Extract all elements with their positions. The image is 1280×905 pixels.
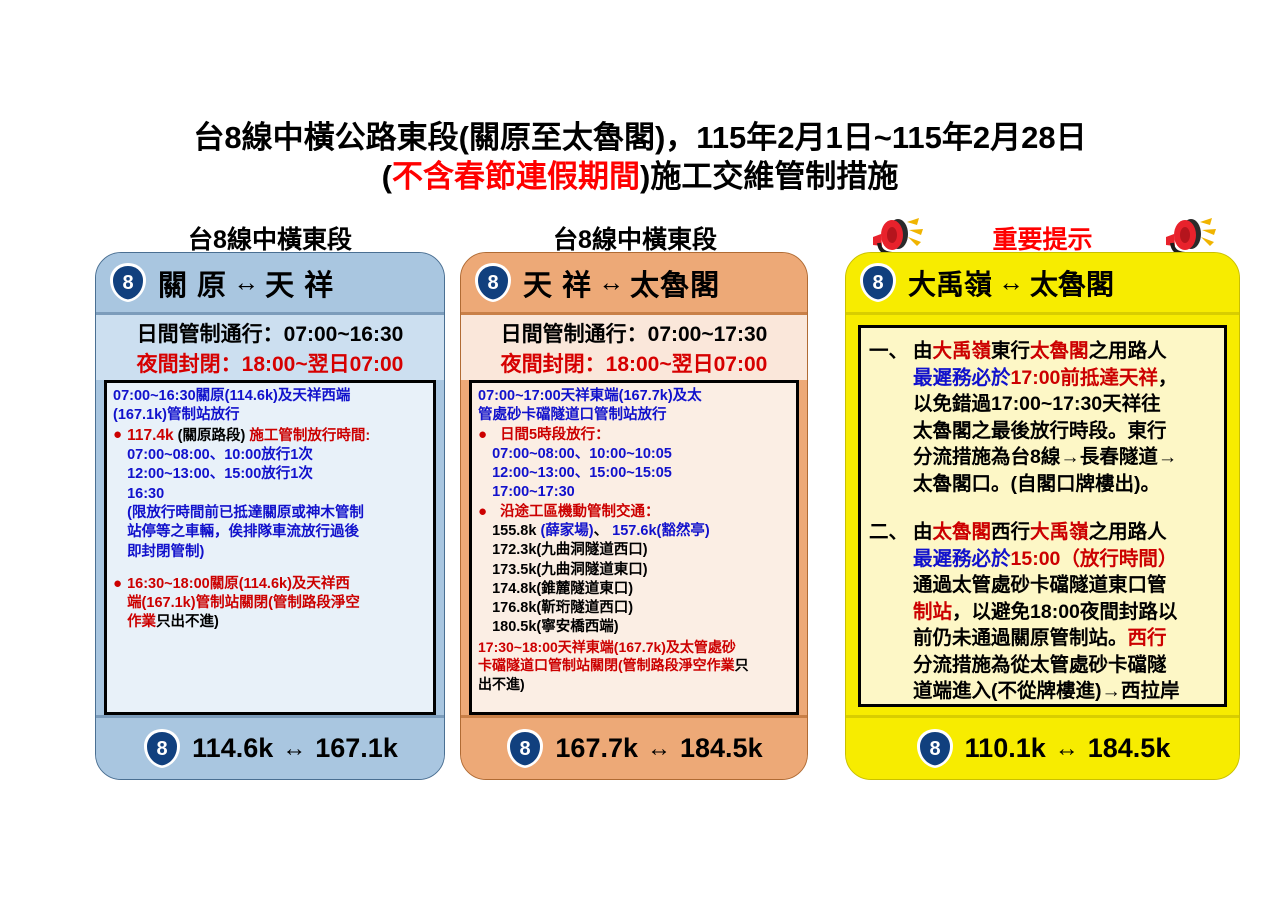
bullet-icon: ● bbox=[113, 575, 122, 593]
panel2-km-row-6: 180.5k(寧安橋西端) bbox=[492, 618, 790, 637]
notice-2-line-7: 道端進入(不從牌樓進)→西拉岸 bbox=[913, 678, 1216, 705]
panel2-range-from: 167.7k bbox=[555, 733, 638, 764]
panel1-b1-times-2: 12:00~13:00、15:00放行1次 bbox=[127, 465, 427, 484]
route-shield-icon: 8 bbox=[473, 261, 513, 304]
panel1-b1-times-3: 16:30 bbox=[127, 485, 427, 504]
notice-2-line-8: 隧道→台8線長春隧道→天祥。 bbox=[913, 705, 1216, 707]
panel2-bullet-1: ● 日間5時段放行： 07:00~08:00、10:00~10:05 12:00… bbox=[478, 426, 790, 503]
panel1-b1-times-1: 07:00~08:00、10:00放行1次 bbox=[127, 446, 427, 465]
notice-item-2-number: 二、 bbox=[869, 519, 913, 707]
title-accent: 不含春節連假期間 bbox=[392, 159, 640, 194]
double-arrow-icon: ↔ bbox=[1055, 735, 1079, 763]
n2l4a: 制站 bbox=[913, 601, 952, 623]
svg-text:8: 8 bbox=[157, 738, 168, 760]
notice-spacer bbox=[869, 501, 1216, 519]
panel-tianxiang-taroko: 8 天 祥 ↔ 太魯閣 日間管制通行：07:00~17:30 夜間封閉：18:0… bbox=[460, 252, 808, 780]
n2l1a: 由 bbox=[913, 521, 933, 543]
bullet-icon: ● bbox=[478, 426, 487, 444]
n1l2c: ， bbox=[1158, 367, 1178, 389]
panel1-range-from: 114.6k bbox=[192, 733, 273, 764]
panel1-nighttime: 夜間封閉：18:00~翌日07:00 bbox=[96, 348, 444, 378]
panel2-intro-2: 管處砂卡礑隧道口管制站放行 bbox=[478, 406, 790, 425]
panel1-from: 關 原 bbox=[158, 262, 227, 304]
panel1-b2-blk: 只出不進) bbox=[156, 614, 219, 630]
notice-1-line-6: 太魯閣口。(自閣口牌樓出)。 bbox=[913, 471, 1216, 498]
panel1-spacer bbox=[113, 562, 427, 575]
panel1-b1-km: 117.4k bbox=[127, 427, 174, 444]
panel1-b2-line-3: 作業只出不進) bbox=[127, 613, 427, 632]
panel3-range: 110.1k ↔ 184.5k bbox=[965, 733, 1171, 764]
panel1-range-to: 167.1k bbox=[315, 733, 398, 764]
panel3-range-from: 110.1k bbox=[965, 733, 1046, 764]
n2l1d: 大禹嶺 bbox=[1030, 521, 1089, 543]
panel1-b2-line-1: 16:30~18:00關原(114.6k)及天祥西 bbox=[127, 575, 427, 594]
panel2-km-row-5: 176.8k(靳珩隧道西口) bbox=[492, 599, 790, 618]
panel3-footer: 8 110.1k ↔ 184.5k bbox=[846, 715, 1239, 779]
panel2-km1b: (薛家場) bbox=[540, 523, 593, 539]
n1l2b: 17:00前抵達天祥 bbox=[1011, 367, 1158, 389]
n1l1e: 之用路人 bbox=[1089, 340, 1167, 362]
double-arrow-icon: ↔ bbox=[598, 267, 624, 298]
panel1-range: 114.6k ↔ 167.1k bbox=[192, 733, 398, 764]
notice-1-line-4: 太魯閣之最後放行時段。東行 bbox=[913, 418, 1216, 445]
panel1-b1-head: 117.4k (關原路段) 施工管制放行時間: bbox=[127, 426, 427, 447]
n2l5b: 西行 bbox=[1128, 627, 1167, 649]
n1l1d: 太魯閣 bbox=[1030, 340, 1089, 362]
notice-2-line-3: 通過太管處砂卡礑隧道東口管 bbox=[913, 572, 1216, 599]
panel1-time-bar: 日間管制通行：07:00~16:30 夜間封閉：18:00~翌日07:00 bbox=[96, 315, 444, 380]
panel2-close-2-red: 卡礑隧道口管制站關閉(管制路段淨空作業 bbox=[478, 657, 735, 673]
n2l1b: 太魯閣 bbox=[933, 521, 992, 543]
panel1-bullet-2: ● 16:30~18:00關原(114.6k)及天祥西 端(167.1k)管制站… bbox=[113, 575, 427, 633]
notice-2-line-4: 制站，以避免18:00夜間封路以 bbox=[913, 599, 1216, 626]
panel1-b1-seg: (關原路段) bbox=[178, 428, 246, 444]
notice-1-line-1: 由大禹嶺東行太魯閣之用路人 bbox=[913, 338, 1216, 365]
panel1-header: 8 關 原 ↔ 天 祥 bbox=[96, 253, 444, 315]
panel2-km-row-2: 172.3k(九曲洞隧道西口) bbox=[492, 541, 790, 560]
notice-1-line-5: 分流措施為台8線→長春隧道→ bbox=[913, 444, 1216, 471]
panel3-detail: 一、 由大禹嶺東行太魯閣之用路人 最遲務必於17:00前抵達天祥， 以免錯過17… bbox=[858, 325, 1227, 707]
panel2-km1d: 157.6k(豁然亭) bbox=[612, 523, 710, 539]
panel1-title: 關 原 ↔ 天 祥 bbox=[158, 262, 334, 304]
panel2-b1-times-2: 12:00~13:00、15:00~15:05 bbox=[492, 464, 790, 483]
panel2-km1a: 155.8k bbox=[492, 523, 536, 539]
double-arrow-icon: ↔ bbox=[233, 267, 259, 298]
double-arrow-icon: ↔ bbox=[647, 735, 671, 763]
panel1-b2-red: 作業 bbox=[127, 614, 156, 630]
panel2-b1-times-3: 17:00~17:30 bbox=[492, 483, 790, 502]
route-shield-icon: 8 bbox=[108, 261, 148, 304]
n2l1e: 之用路人 bbox=[1089, 521, 1167, 543]
notice-item-1-number: 一、 bbox=[869, 338, 913, 497]
panel2-title: 天 祥 ↔ 太魯閣 bbox=[523, 262, 720, 304]
panel2-close-3: 出不進) bbox=[478, 675, 790, 694]
panel1-b1-note-2: 站停等之車輛，俟排隊車流放行過後 bbox=[127, 523, 427, 542]
panel1-b2-line-2: 端(167.1k)管制站關閉(管制路段淨空 bbox=[127, 594, 427, 613]
panel1-detail: 07:00~16:30關原(114.6k)及天祥西端 (167.1k)管制站放行… bbox=[104, 380, 436, 715]
panel3-range-to: 184.5k bbox=[1088, 733, 1171, 764]
panel2-km-row-4: 174.8k(錐麓隧道東口) bbox=[492, 580, 790, 599]
panel2-close-2: 卡礑隧道口管制站關閉(管制路段淨空作業只 bbox=[478, 656, 790, 675]
n1l2a: 最遲務必於 bbox=[913, 367, 1011, 389]
panel1-bullet-1: ● 117.4k (關原路段) 施工管制放行時間: 07:00~08:00、10… bbox=[113, 426, 427, 562]
panel2-km-row-3: 173.5k(九曲洞隧道東口) bbox=[492, 561, 790, 580]
panel2-range-to: 184.5k bbox=[680, 733, 763, 764]
panel1-daytime: 日間管制通行：07:00~16:30 bbox=[96, 318, 444, 348]
svg-text:8: 8 bbox=[872, 272, 883, 294]
panel2-km-row-1: 155.8k (薛家場)、 157.6k(豁然亭) bbox=[492, 522, 790, 541]
panel1-intro-1: 07:00~16:30關原(114.6k)及天祥西端 bbox=[113, 387, 427, 406]
panel2-daytime: 日間管制通行：07:00~17:30 bbox=[461, 318, 807, 348]
panel2-detail: 07:00~17:00天祥東端(167.7k)及太 管處砂卡礑隧道口管制站放行 … bbox=[469, 380, 799, 715]
title-tail: )施工交維管制措施 bbox=[640, 159, 898, 194]
panel1-b1-note-1: (限放行時間前已抵達關原或神木管制 bbox=[127, 504, 427, 523]
bullet-icon: ● bbox=[113, 426, 122, 444]
title-paren-open: ( bbox=[382, 159, 392, 194]
notice-2-line-2: 最遲務必於15:00（放行時間） bbox=[913, 546, 1216, 573]
n1l1c: 東行 bbox=[991, 340, 1030, 362]
panel3-title: 大禹嶺 ↔ 太魯閣 bbox=[908, 263, 1114, 303]
n1l1a: 由 bbox=[913, 340, 933, 362]
title-line-2: (不含春節連假期間)施工交維管制措施 bbox=[0, 157, 1280, 196]
svg-text:8: 8 bbox=[520, 738, 531, 760]
panel1-to: 天 祥 bbox=[265, 262, 334, 304]
notice-2-line-6: 分流措施為從太管處砂卡礑隧 bbox=[913, 652, 1216, 679]
page-title: 台8線中橫公路東段(關原至太魯閣)，115年2月1日~115年2月28日 (不含… bbox=[0, 118, 1280, 196]
panel2-close-1: 17:30~18:00天祥東端(167.7k)及太管處砂 bbox=[478, 638, 790, 657]
n2l1c: 西行 bbox=[991, 521, 1030, 543]
panel2-time-bar: 日間管制通行：07:00~17:30 夜間封閉：18:00~翌日07:00 bbox=[461, 315, 807, 380]
notice-1-line-3: 以免錯過17:00~17:30天祥往 bbox=[913, 391, 1216, 418]
panel-dayuling-taroko-notice: 8 大禹嶺 ↔ 太魯閣 一、 由大禹嶺東行太魯閣之用路人 最遲務必於17:00前… bbox=[845, 252, 1240, 780]
panel2-bullet-2: ● 沿途工區機動管制交通： 155.8k (薛家場)、 157.6k(豁然亭) … bbox=[478, 503, 790, 638]
panel2-b1-times-1: 07:00~08:00、10:00~10:05 bbox=[492, 445, 790, 464]
svg-text:8: 8 bbox=[487, 272, 498, 294]
notice-caption: 重要提示 bbox=[845, 220, 1240, 256]
double-arrow-icon: ↔ bbox=[998, 267, 1024, 298]
panel2-b1-label: 日間5時段放行： bbox=[492, 426, 790, 445]
svg-text:8: 8 bbox=[122, 272, 133, 294]
notice-caption-label: 重要提示 bbox=[992, 226, 1092, 254]
column-caption-2: 台8線中橫東段 bbox=[460, 220, 810, 256]
panel-guanyuan-tianxiang: 8 關 原 ↔ 天 祥 日間管制通行：07:00~16:30 夜間封閉：18:0… bbox=[95, 252, 445, 780]
route-shield-icon: 8 bbox=[858, 261, 898, 304]
notice-2-line-5: 前仍未通過關原管制站。西行 bbox=[913, 625, 1216, 652]
route-shield-icon: 8 bbox=[505, 727, 545, 770]
panel2-to: 太魯閣 bbox=[630, 262, 720, 304]
panel2-km1c: 、 bbox=[594, 523, 609, 539]
poster-root: 台8線中橫公路東段(關原至太魯閣)，115年2月1日~115年2月28日 (不含… bbox=[0, 0, 1280, 905]
panel2-b2-label: 沿途工區機動管制交通： bbox=[492, 503, 790, 522]
n2l2b: 15:00（放行時間） bbox=[1011, 548, 1178, 570]
panel2-range: 167.7k ↔ 184.5k bbox=[555, 733, 762, 764]
panel2-close-2-blk: 只 bbox=[735, 657, 749, 673]
panel1-b1-label: 施工管制放行時間: bbox=[249, 428, 370, 444]
n2l2a: 最遲務必於 bbox=[913, 548, 1011, 570]
notice-2-line-1: 由太魯閣西行大禹嶺之用路人 bbox=[913, 519, 1216, 546]
title-line-1: 台8線中橫公路東段(關原至太魯閣)，115年2月1日~115年2月28日 bbox=[0, 118, 1280, 157]
n1l1b: 大禹嶺 bbox=[933, 340, 992, 362]
panel3-to: 太魯閣 bbox=[1030, 263, 1114, 303]
n2l5a: 前仍未通過關原管制站。 bbox=[913, 627, 1128, 649]
panel3-header: 8 大禹嶺 ↔ 太魯閣 bbox=[846, 253, 1239, 315]
panel2-header: 8 天 祥 ↔ 太魯閣 bbox=[461, 253, 807, 315]
panel2-intro-1: 07:00~17:00天祥東端(167.7k)及太 bbox=[478, 387, 790, 406]
notice-item-2: 二、 由太魯閣西行大禹嶺之用路人 最遲務必於15:00（放行時間） 通過太管處砂… bbox=[869, 519, 1216, 707]
panel3-from: 大禹嶺 bbox=[908, 263, 992, 303]
panel2-footer: 8 167.7k ↔ 184.5k bbox=[461, 715, 807, 779]
panel2-nighttime: 夜間封閉：18:00~翌日07:00 bbox=[461, 348, 807, 378]
panel2-from: 天 祥 bbox=[523, 262, 592, 304]
bullet-icon: ● bbox=[478, 503, 487, 521]
panel1-b1-note-3: 即封閉管制) bbox=[127, 543, 427, 562]
panel1-footer: 8 114.6k ↔ 167.1k bbox=[96, 715, 444, 779]
notice-item-1: 一、 由大禹嶺東行太魯閣之用路人 最遲務必於17:00前抵達天祥， 以免錯過17… bbox=[869, 338, 1216, 497]
panel1-intro-2: (167.1k)管制站放行 bbox=[113, 406, 427, 425]
notice-1-line-2: 最遲務必於17:00前抵達天祥， bbox=[913, 365, 1216, 392]
n2l4b: ，以避免18:00夜間封路以 bbox=[952, 601, 1177, 623]
double-arrow-icon: ↔ bbox=[282, 735, 306, 763]
svg-text:8: 8 bbox=[929, 738, 940, 760]
column-caption-1: 台8線中橫東段 bbox=[95, 220, 445, 256]
route-shield-icon: 8 bbox=[142, 727, 182, 770]
route-shield-icon: 8 bbox=[915, 727, 955, 770]
panel2-close-3-blk: 出不進) bbox=[478, 676, 525, 692]
